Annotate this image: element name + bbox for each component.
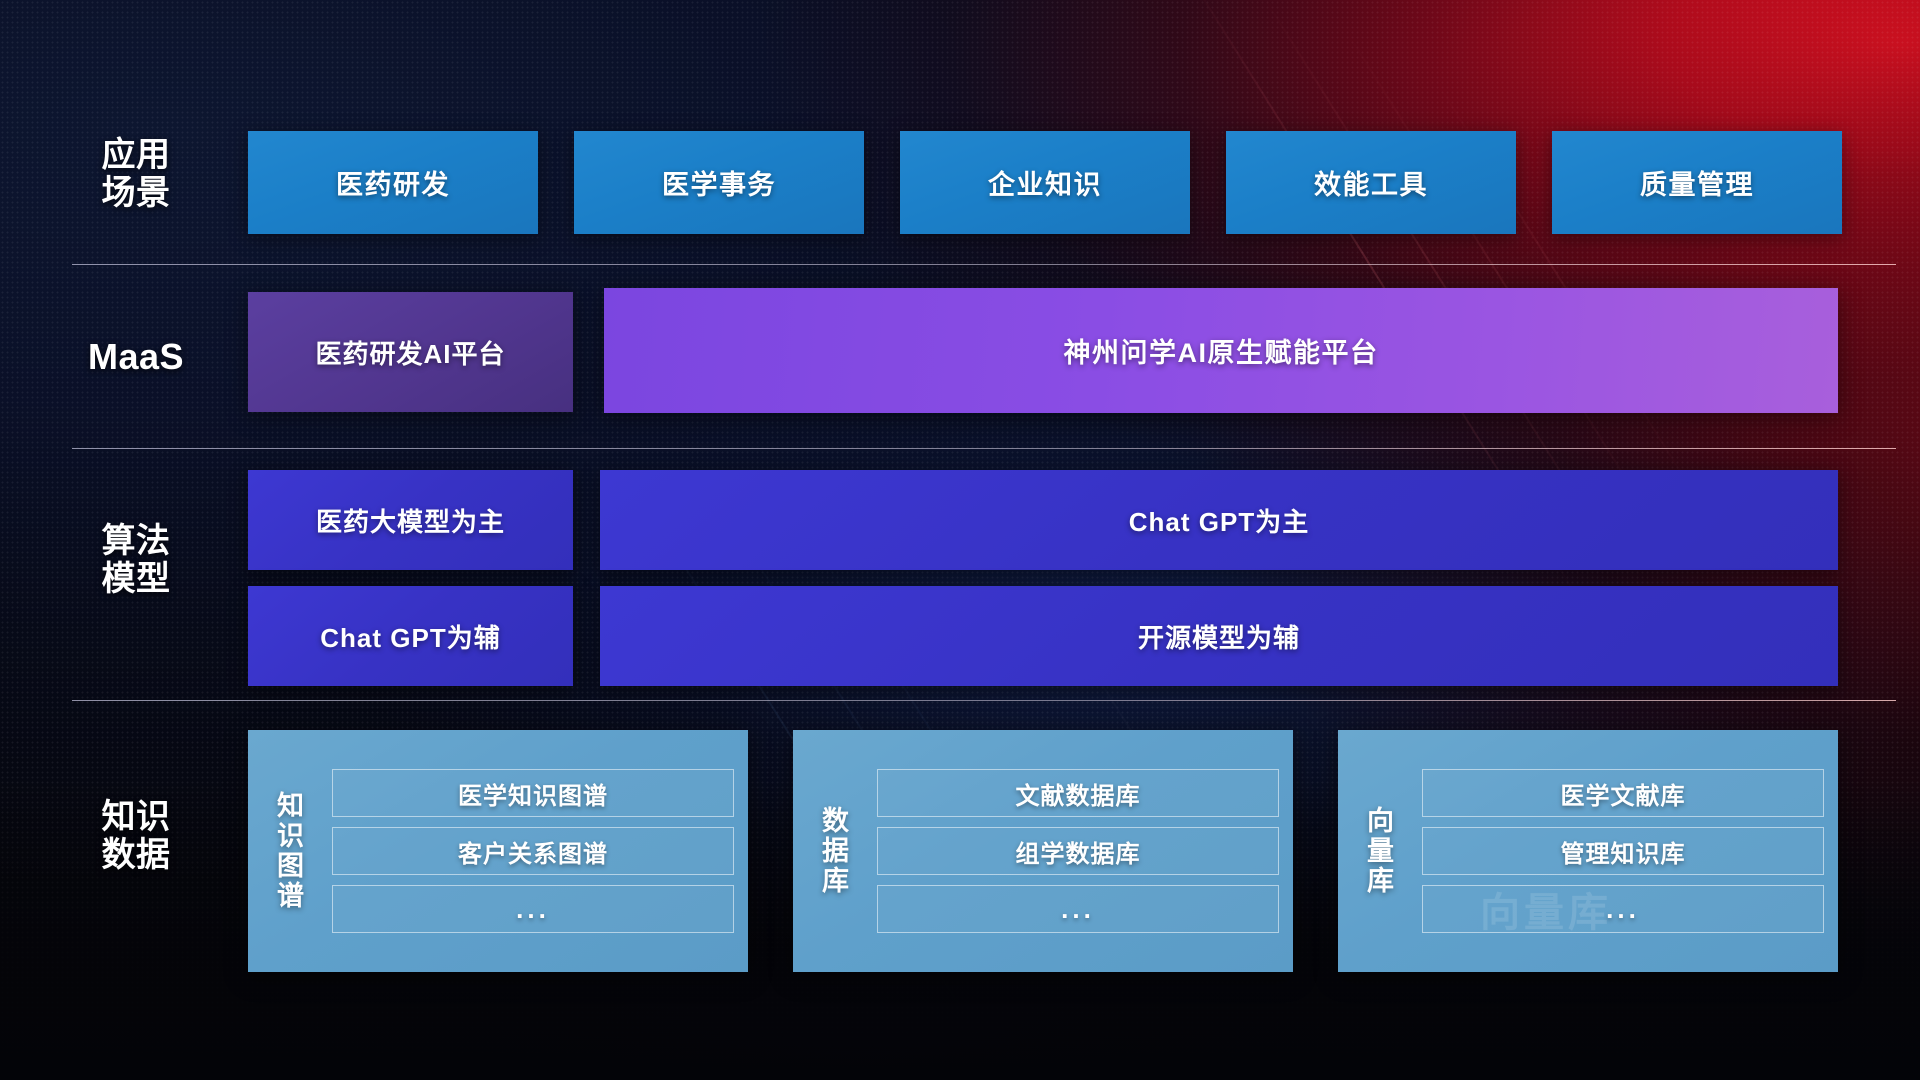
knowledge-group-vector-label: 向量库 <box>1350 806 1412 897</box>
knowledge-item-omics-db[interactable]: 组学数据库 <box>877 827 1279 875</box>
knowledge-group-vector-items: 医学文献库 管理知识库 ... <box>1412 769 1824 933</box>
maas-platform-box-medical[interactable]: 医药研发AI平台 <box>248 292 573 412</box>
app-scenario-box-3[interactable]: 企业知识 <box>900 131 1190 234</box>
knowledge-group-database-items: 文献数据库 组学数据库 ... <box>867 769 1279 933</box>
algorithm-box-opensource-secondary[interactable]: 开源模型为辅 <box>600 586 1838 686</box>
row-label-algorithm-line1: 算法 <box>72 522 200 560</box>
knowledge-item-literature-db[interactable]: 文献数据库 <box>877 769 1279 817</box>
app-scenario-box-5[interactable]: 质量管理 <box>1552 131 1842 234</box>
algorithm-box-chatgpt-primary[interactable]: Chat GPT为主 <box>600 470 1838 570</box>
row-label-knowledge-line2: 数据 <box>72 836 200 874</box>
row-label-application: 应用 场景 <box>72 136 200 212</box>
algorithm-box-medical-llm-primary[interactable]: 医药大模型为主 <box>248 470 573 570</box>
knowledge-group-vector[interactable]: 向量库 医学文献库 管理知识库 ... <box>1338 730 1838 972</box>
divider-application-maas <box>72 264 1896 265</box>
app-scenario-box-1[interactable]: 医药研发 <box>248 131 538 234</box>
knowledge-item-vector-more[interactable]: ... <box>1422 885 1824 933</box>
knowledge-item-management-knowledge-lib[interactable]: 管理知识库 <box>1422 827 1824 875</box>
row-label-algorithm-line2: 模型 <box>72 560 200 598</box>
knowledge-item-medical-graph[interactable]: 医学知识图谱 <box>332 769 734 817</box>
knowledge-group-database[interactable]: 数据库 文献数据库 组学数据库 ... <box>793 730 1293 972</box>
knowledge-group-graph-label: 知识图谱 <box>260 791 322 912</box>
maas-platform-box-shenzhou[interactable]: 神州问学AI原生赋能平台 <box>604 288 1838 413</box>
row-label-application-line1: 应用 <box>72 136 200 174</box>
knowledge-group-graph-items: 医学知识图谱 客户关系图谱 ... <box>322 769 734 933</box>
knowledge-item-medical-literature-lib[interactable]: 医学文献库 <box>1422 769 1824 817</box>
knowledge-item-customer-graph[interactable]: 客户关系图谱 <box>332 827 734 875</box>
row-label-knowledge: 知识 数据 <box>72 798 200 874</box>
divider-algorithm-knowledge <box>72 700 1896 701</box>
divider-maas-algorithm <box>72 448 1896 449</box>
row-label-application-line2: 场景 <box>72 174 200 212</box>
row-label-knowledge-line1: 知识 <box>72 798 200 836</box>
row-label-algorithm: 算法 模型 <box>72 522 200 598</box>
knowledge-group-graph[interactable]: 知识图谱 医学知识图谱 客户关系图谱 ... <box>248 730 748 972</box>
app-scenario-box-4[interactable]: 效能工具 <box>1226 131 1516 234</box>
algorithm-box-chatgpt-secondary[interactable]: Chat GPT为辅 <box>248 586 573 686</box>
row-label-maas: MaaS <box>72 337 200 377</box>
knowledge-item-database-more[interactable]: ... <box>877 885 1279 933</box>
app-scenario-box-2[interactable]: 医学事务 <box>574 131 864 234</box>
knowledge-item-graph-more[interactable]: ... <box>332 885 734 933</box>
row-label-maas-text: MaaS <box>72 337 200 377</box>
knowledge-group-database-label: 数据库 <box>805 806 867 897</box>
